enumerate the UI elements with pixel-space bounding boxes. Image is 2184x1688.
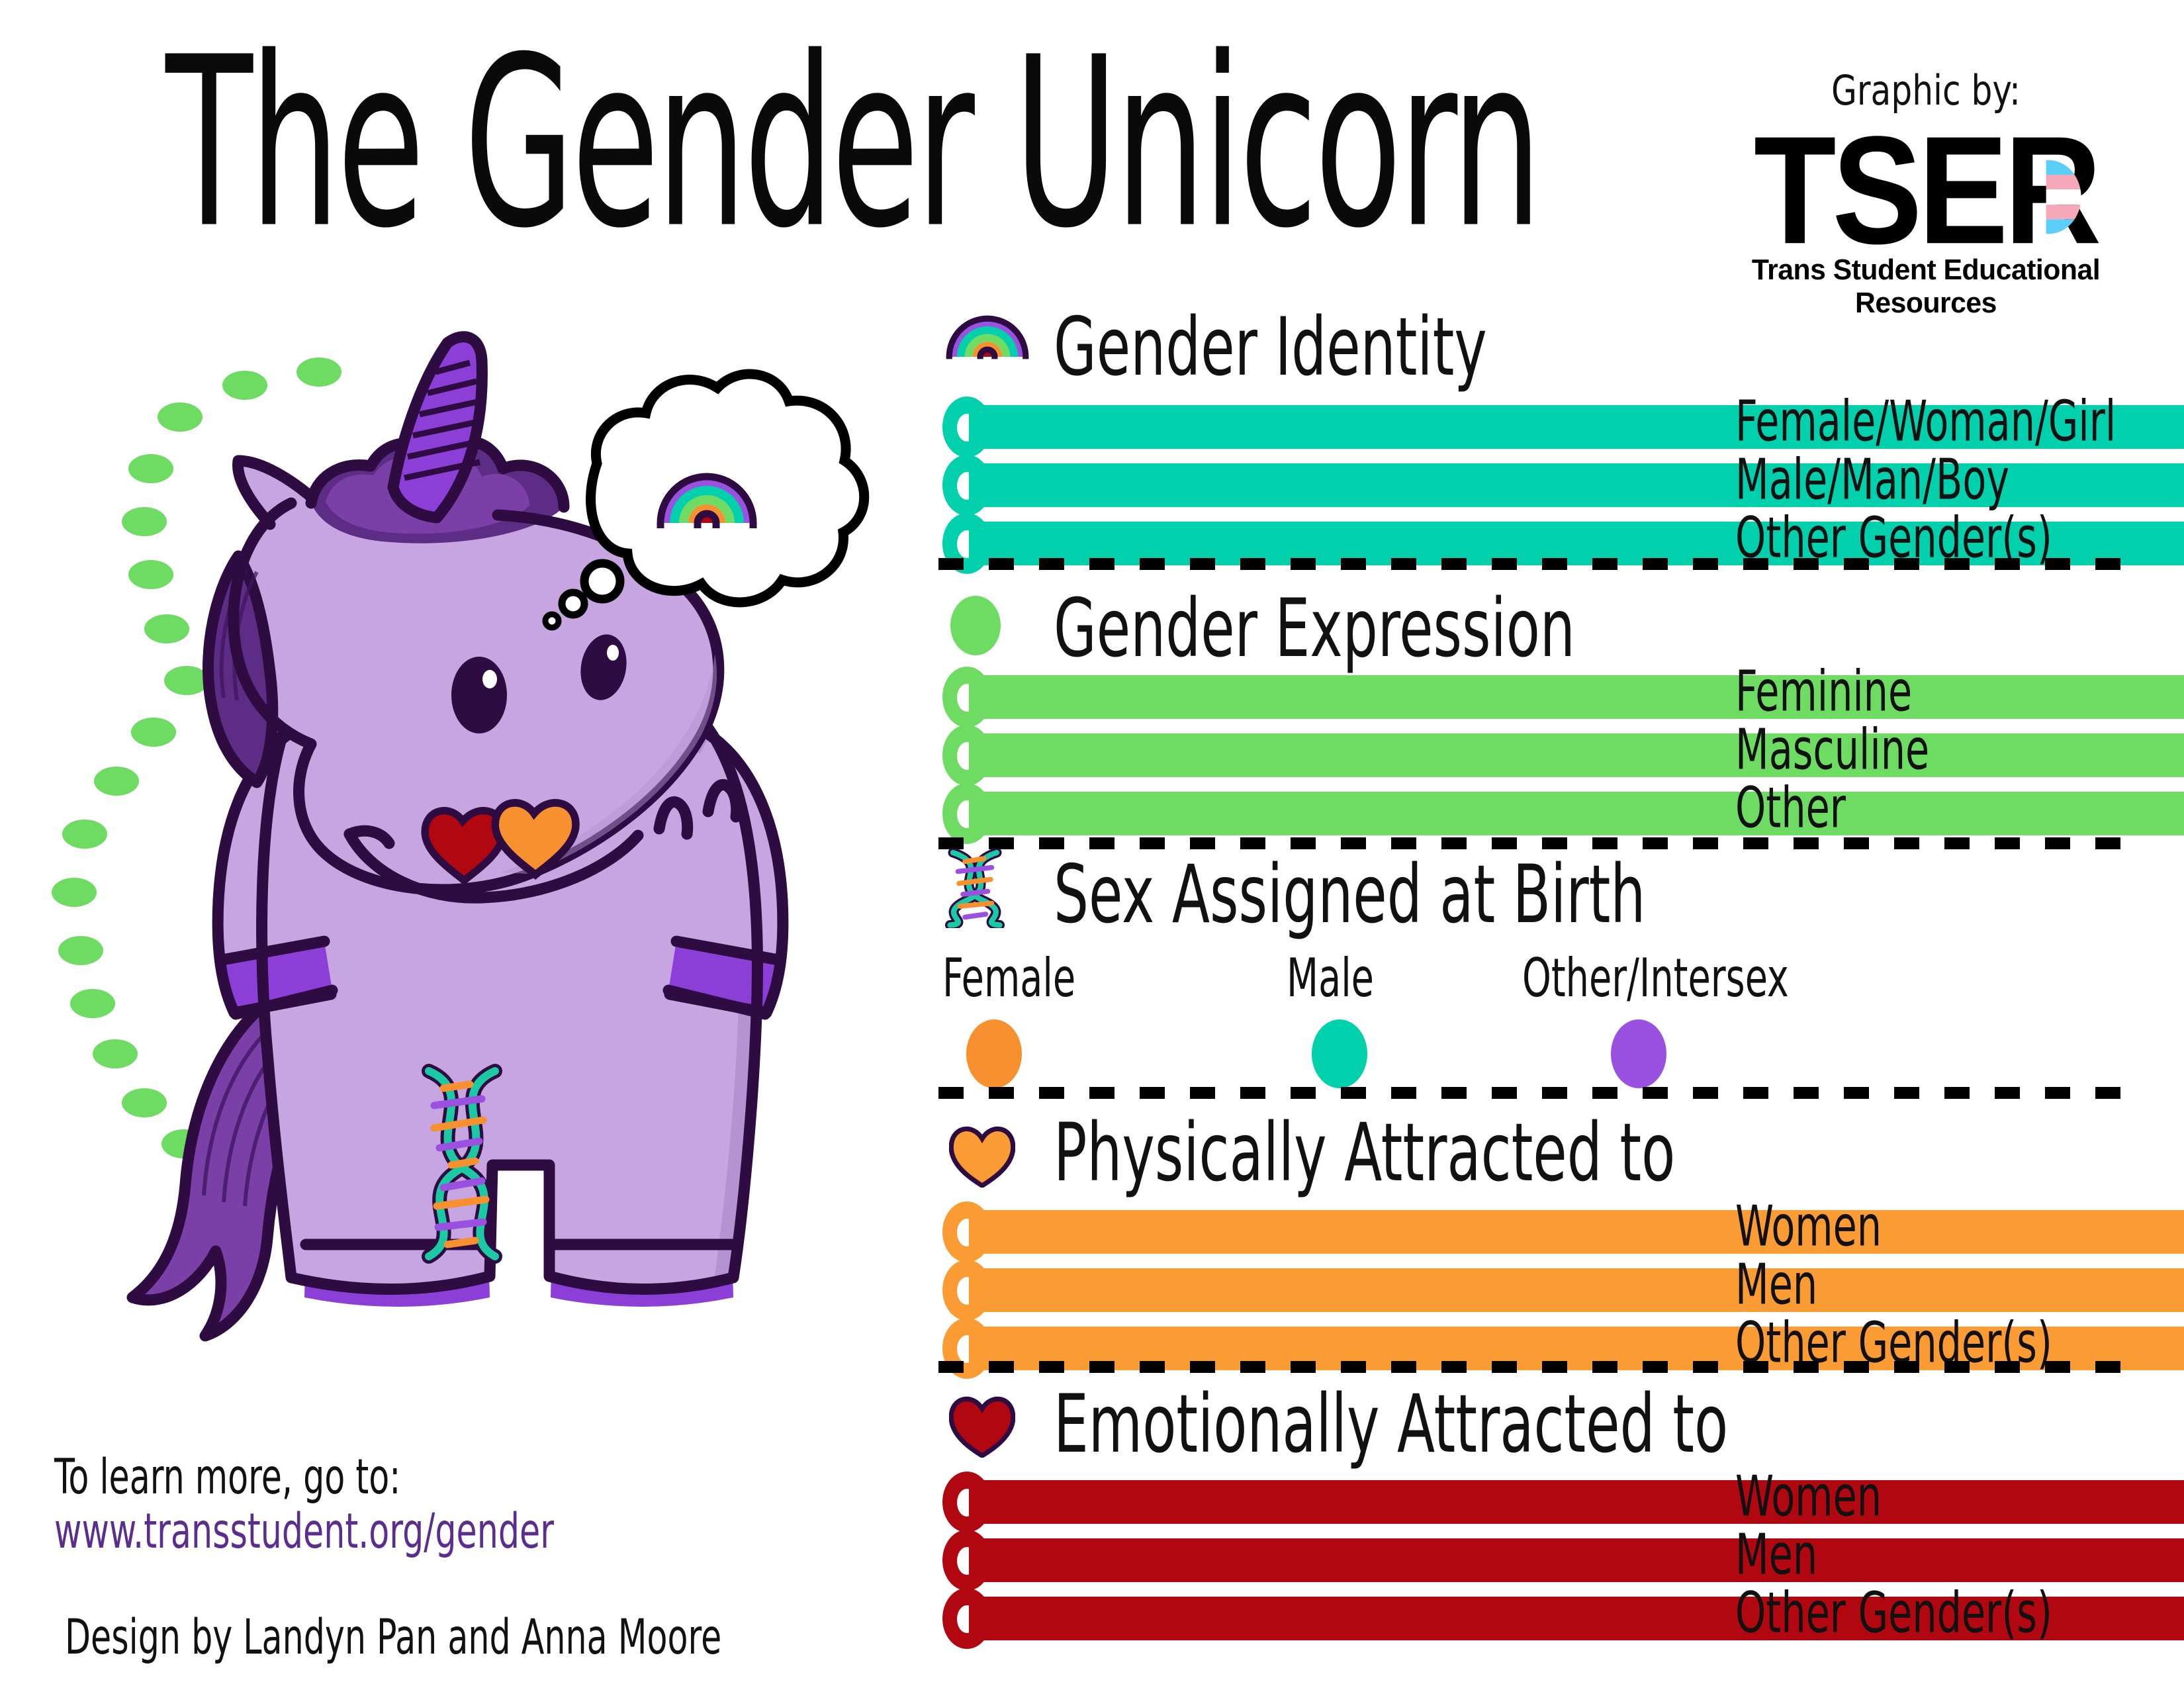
sex-dot-male[interactable] — [1312, 1019, 1367, 1088]
section-divider-1 — [938, 558, 2130, 570]
learn-more-label: To learn more, go to: — [54, 1450, 400, 1505]
rainbow-icon — [945, 312, 1030, 360]
section-title-sex-assigned-at-birth: Sex Assigned at Birth — [1054, 849, 1645, 941]
spectrum-label-physically-attracted-1: Men — [1735, 1251, 1817, 1317]
section-title-emotionally-attracted-to: Emotionally Attracted to — [1054, 1378, 1728, 1471]
sex-dot-other-intersex[interactable] — [1611, 1019, 1666, 1088]
section-title-gender-identity: Gender Identity — [1054, 301, 1487, 394]
design-credit: Design by Landyn Pan and Anna Moore — [65, 1610, 721, 1665]
section-title-physically-attracted-to: Physically Attracted to — [1054, 1107, 1675, 1199]
spectrum-label-gender-identity-0: Female/Woman/Girl — [1735, 388, 2116, 454]
spectrum-label-physically-attracted-0: Women — [1735, 1193, 1882, 1259]
sex-dot-label-male: Male — [1287, 947, 1374, 1009]
section-divider-2 — [938, 837, 2130, 849]
tser-full-name: Trans Student Educational Resources — [1707, 254, 2144, 320]
tser-acronym: TSER — [1754, 117, 2098, 265]
section-title-gender-expression: Gender Expression — [1054, 583, 1575, 675]
sex-dot-label-female: Female — [942, 947, 1075, 1009]
learn-more-url[interactable]: www.transstudent.org/gender — [54, 1504, 554, 1560]
spectrum-label-gender-identity-1: Male/Man/Boy — [1735, 446, 2009, 512]
tser-logo: Graphic by: TSER Trans Student Education… — [1701, 66, 2151, 320]
sex-dot-female[interactable] — [966, 1019, 1022, 1088]
thought-bubble — [545, 374, 864, 628]
spectrum-label-emotionally-attracted-2: Other Gender(s) — [1735, 1579, 2052, 1646]
sex-dot-label-other-intersex: Other/Intersex — [1522, 947, 1789, 1009]
page-title: The Gender Unicorn — [165, 26, 1539, 261]
orange-heart-icon — [949, 1124, 1015, 1188]
spectrum-label-gender-expression-2: Other — [1735, 774, 1846, 841]
spectrum-label-gender-expression-0: Feminine — [1735, 658, 1912, 724]
section-divider-4 — [938, 1361, 2130, 1373]
green-circle-icon — [950, 596, 1001, 655]
spectrum-label-emotionally-attracted-0: Women — [1735, 1463, 1882, 1529]
gender-unicorn-character: .ol{fill:none;stroke:#2E0B41;stroke-widt… — [93, 305, 874, 1377]
section-divider-3 — [938, 1087, 2130, 1099]
dna-icon — [945, 849, 1005, 928]
red-heart-icon — [949, 1394, 1015, 1458]
spectrum-label-gender-expression-1: Masculine — [1735, 716, 1929, 782]
spectrum-label-emotionally-attracted-1: Men — [1735, 1521, 1817, 1587]
